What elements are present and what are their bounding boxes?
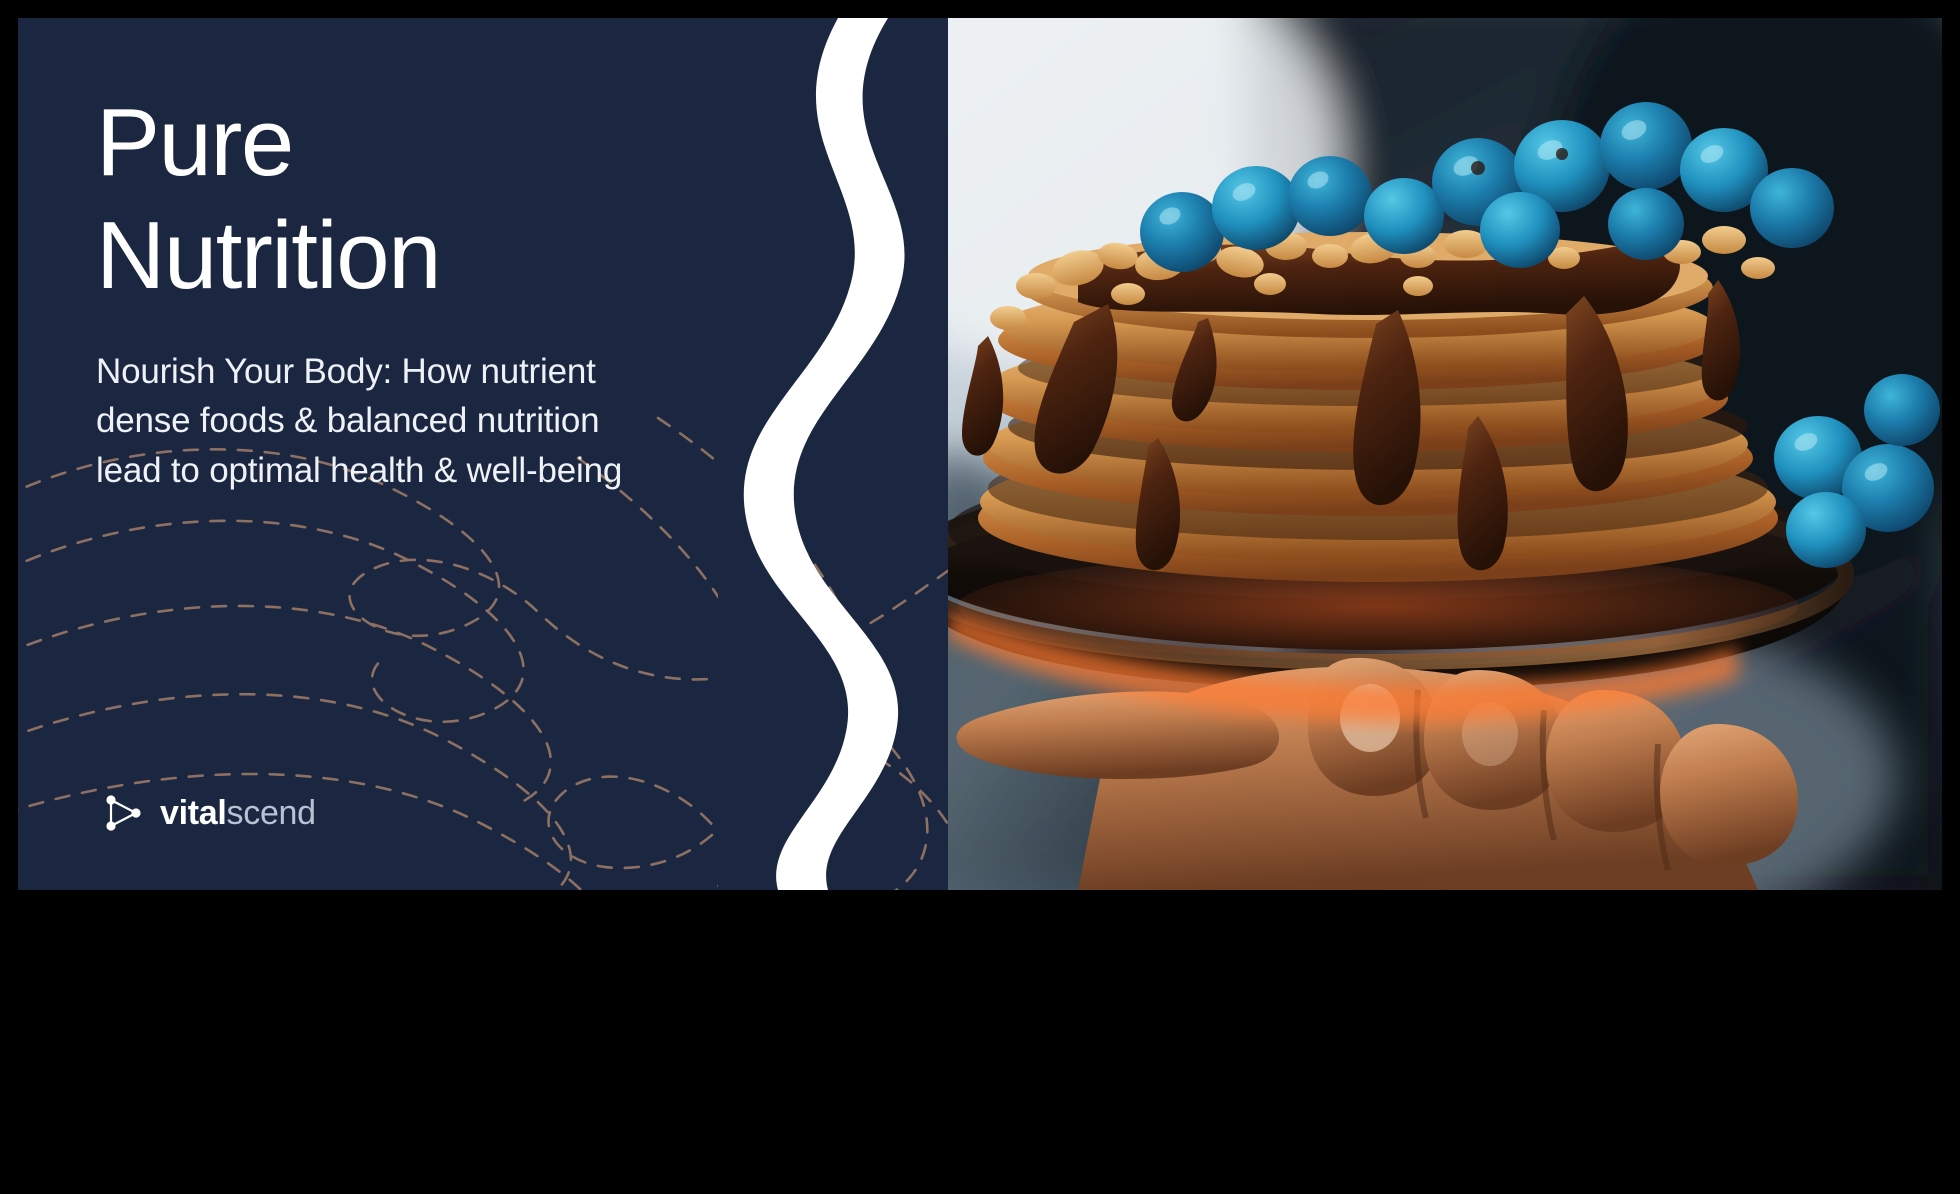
headline-block: Pure Nutrition Nourish Your Body: How nu… (96, 86, 716, 496)
subtitle-line-1: Nourish Your Body: How nutrient (96, 347, 716, 397)
title-line-2: Nutrition (96, 199, 716, 312)
subtitle: Nourish Your Body: How nutrient dense fo… (96, 347, 716, 496)
brand-name-bold: vital (160, 794, 227, 832)
brand-name-light: scend (227, 794, 316, 832)
white-wavy-divider-icon (718, 18, 1048, 890)
brand-logo[interactable]: vitalscend (102, 792, 316, 834)
subtitle-line-2: dense foods & balanced nutrition (96, 396, 716, 446)
slide-frame: Pure Nutrition Nourish Your Body: How nu… (18, 18, 1942, 890)
page-title: Pure Nutrition (96, 86, 716, 313)
vitalscend-triangle-nodes-icon (102, 792, 144, 834)
subtitle-line-3: lead to optimal health & well-being (96, 446, 716, 496)
title-line-1: Pure (96, 86, 716, 199)
brand-wordmark: vitalscend (160, 794, 316, 833)
